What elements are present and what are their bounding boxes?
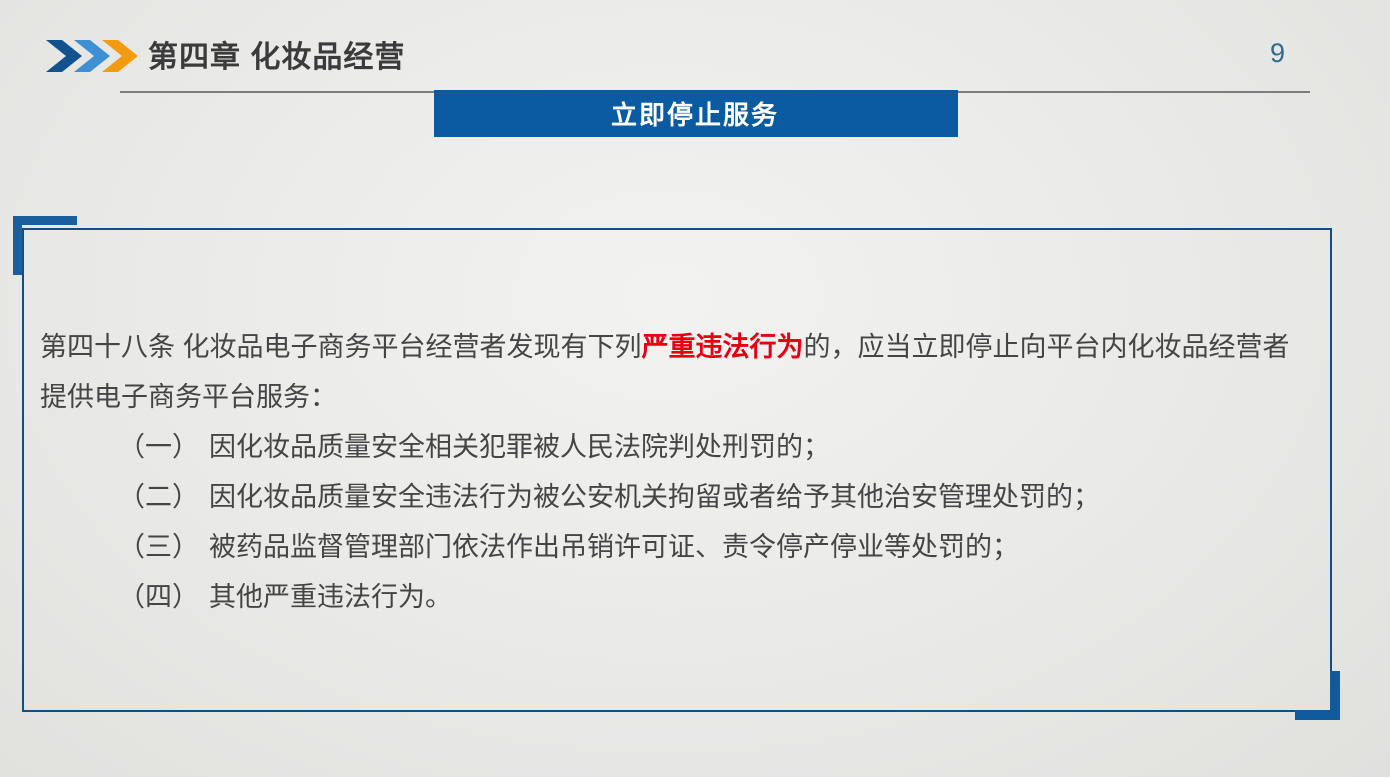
- corner-accent-bottom-right-vertical: [1330, 671, 1340, 720]
- clause-text: 被药品监督管理部门依法作出吊销许可证、责令停产停业等处罚的；: [209, 532, 1019, 562]
- corner-accent-top-left-horizontal: [13, 216, 77, 225]
- list-item: （三）被药品监督管理部门依法作出吊销许可证、责令停产停业等处罚的；: [40, 522, 1305, 572]
- clause-text: 因化妆品质量安全违法行为被公安机关拘留或者给予其他治安管理处罚的；: [209, 482, 1100, 512]
- slide-canvas: 第四章 化妆品经营 9 立即停止服务 第四十八条 化妆品电子商务平台经营者发现有…: [0, 0, 1390, 777]
- list-item: （四）其他严重违法行为。: [40, 572, 1305, 622]
- page-number: 9: [1270, 40, 1285, 67]
- lead-paragraph: 第四十八条 化妆品电子商务平台经营者发现有下列严重违法行为的，应当立即停止向平台…: [40, 322, 1305, 422]
- clause-marker: （三）: [118, 522, 199, 572]
- triple-chevron-icon: [44, 36, 144, 76]
- clause-marker: （四）: [118, 572, 199, 622]
- clause-marker: （二）: [118, 472, 199, 522]
- section-banner-title: 立即停止服务: [611, 95, 779, 132]
- list-item: （二）因化妆品质量安全违法行为被公安机关拘留或者给予其他治安管理处罚的；: [40, 472, 1305, 522]
- corner-accent-top-left-vertical: [13, 216, 22, 275]
- page-title: 第四章 化妆品经营: [148, 32, 405, 76]
- clause-marker: （一）: [118, 422, 199, 472]
- corner-accent-bottom-right: [1295, 671, 1340, 720]
- section-banner: 立即停止服务: [434, 90, 958, 137]
- lead-highlight-severe-violation: 严重违法行为: [642, 332, 804, 362]
- list-item: （一）因化妆品质量安全相关犯罪被人民法院判处刑罚的；: [40, 422, 1305, 472]
- content-body: 第四十八条 化妆品电子商务平台经营者发现有下列严重违法行为的，应当立即停止向平台…: [40, 322, 1305, 622]
- lead-text-part-1: 第四十八条 化妆品电子商务平台经营者发现有下列: [40, 332, 642, 362]
- clause-list: （一）因化妆品质量安全相关犯罪被人民法院判处刑罚的； （二）因化妆品质量安全违法…: [40, 422, 1305, 622]
- clause-text: 因化妆品质量安全相关犯罪被人民法院判处刑罚的；: [209, 432, 830, 462]
- corner-accent-top-left: [13, 216, 77, 275]
- clause-text: 其他严重违法行为。: [209, 582, 452, 612]
